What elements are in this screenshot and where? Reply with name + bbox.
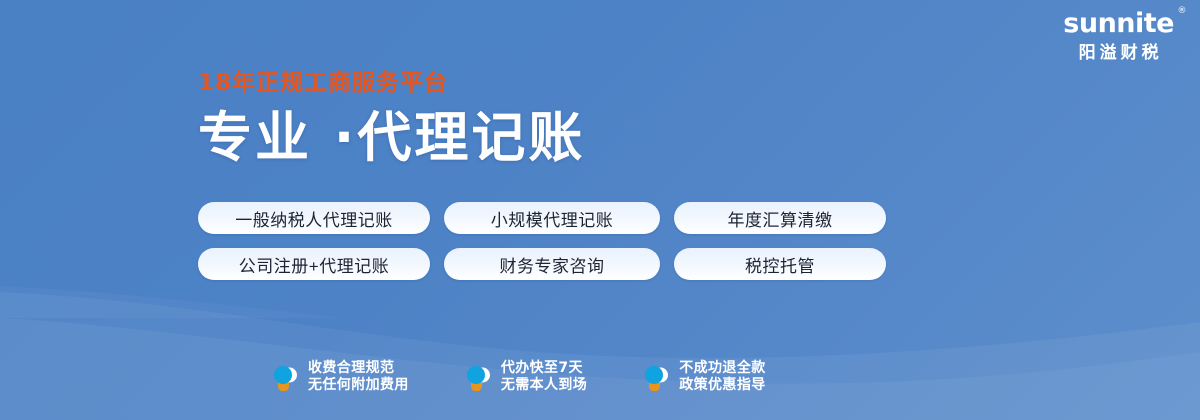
- feature-text: 代办快至7天 无需本人到场: [501, 361, 587, 392]
- feature-line-2: 无需本人到场: [501, 378, 587, 392]
- half-moon-icon: [643, 362, 670, 391]
- feature-line-2: 无任何附加费用: [308, 378, 409, 392]
- feature-line-1: 代办快至7天: [501, 361, 587, 375]
- promo-banner: sunnite ® 阳溢财税 18年正规工商服务平台 专业 ·代理记账 一般纳税…: [0, 0, 1200, 420]
- service-pill[interactable]: 年度汇算清缴: [674, 202, 886, 234]
- page-title: 专业 ·代理记账: [198, 109, 918, 166]
- service-pill[interactable]: 小规模代理记账: [444, 202, 660, 234]
- feature-line-2: 政策优惠指导: [679, 378, 765, 392]
- logo-chinese-name: 阳溢财税: [1063, 44, 1174, 61]
- logo-wordmark-text: sunnite: [1063, 8, 1174, 39]
- service-pill-grid: 一般纳税人代理记账 小规模代理记账 年度汇算清缴 公司注册+代理记账 财务专家咨…: [198, 202, 886, 280]
- service-pill[interactable]: 一般纳税人代理记账: [198, 202, 430, 234]
- feature-line-1: 不成功退全款: [679, 361, 765, 375]
- feature-line-1: 收费合理规范: [308, 361, 409, 375]
- feature-item: 代办快至7天 无需本人到场: [465, 361, 587, 392]
- feature-item: 不成功退全款 政策优惠指导: [643, 361, 765, 392]
- headline-block: 18年正规工商服务平台 专业 ·代理记账: [198, 72, 918, 166]
- half-moon-icon: [465, 362, 492, 391]
- eyebrow-text: 18年正规工商服务平台: [198, 72, 918, 95]
- feature-text: 收费合理规范 无任何附加费用: [308, 361, 409, 392]
- service-pill[interactable]: 财务专家咨询: [444, 248, 660, 280]
- service-pill[interactable]: 税控托管: [674, 248, 886, 280]
- service-pill[interactable]: 公司注册+代理记账: [198, 248, 430, 280]
- half-moon-icon: [272, 362, 299, 391]
- feature-text: 不成功退全款 政策优惠指导: [679, 361, 765, 392]
- feature-item: 收费合理规范 无任何附加费用: [272, 361, 409, 392]
- brand-logo[interactable]: sunnite ® 阳溢财税: [1063, 10, 1174, 61]
- logo-wordmark: sunnite ®: [1063, 10, 1174, 37]
- feature-list: 收费合理规范 无任何附加费用 代办快至7天 无需本人到场: [272, 361, 766, 392]
- registered-trademark-icon: ®: [1178, 7, 1187, 16]
